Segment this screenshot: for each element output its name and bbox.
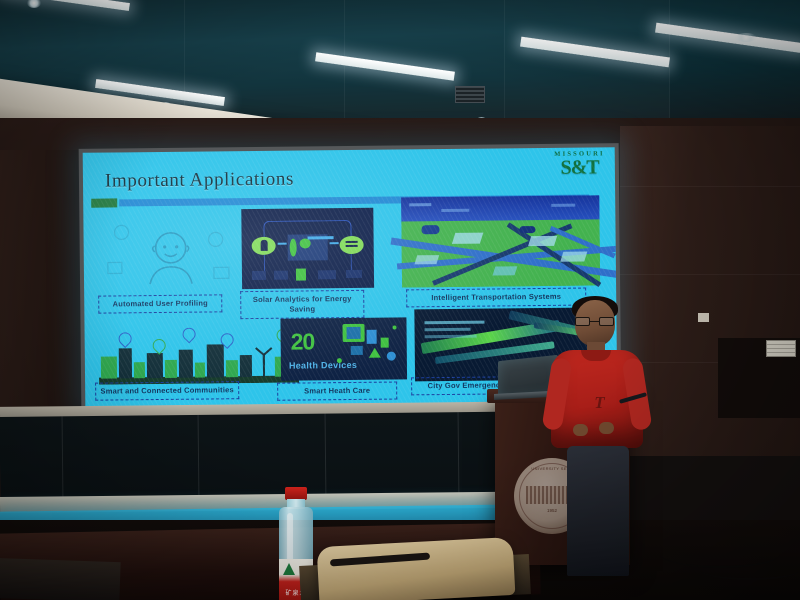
image-solar-analytics — [241, 208, 374, 289]
wall-sign — [766, 340, 796, 357]
image-intelligent-transportation — [401, 195, 600, 287]
foreground-chair-back — [317, 537, 516, 600]
health-figure-number: 20 — [291, 328, 315, 355]
presentation-photo-scene: Important Applications MISSOURI S&T — [0, 0, 800, 600]
health-figure-label: Health Devices — [289, 360, 357, 371]
slide-title: Important Applications — [105, 169, 294, 193]
image-smart-health-care: 20 Health Devices — [280, 317, 407, 380]
image-smart-connected-communities — [99, 327, 300, 385]
ceiling-light-strip — [655, 23, 800, 54]
map-pin-icon — [116, 330, 134, 348]
logo-main-text: S&T — [554, 157, 605, 178]
tshirt-graphic: T — [578, 392, 620, 414]
caption-automated-user-profiling: Automated User Profiling — [98, 294, 222, 313]
map-pin-icon — [180, 327, 198, 344]
caption-solar-analytics: Solar Analytics for Energy Saving — [240, 290, 364, 320]
bottle-highlight — [287, 513, 293, 565]
floor-cable — [700, 560, 800, 580]
presenter-trousers — [567, 446, 629, 576]
glasses-icon — [575, 317, 615, 326]
accent-tab-green — [91, 198, 117, 207]
foreground-seat-left — [0, 558, 121, 600]
caption-smart-connected-communities: Smart and Connected Communities — [95, 381, 239, 401]
wall-switch[interactable] — [698, 313, 709, 322]
presenter: T — [545, 300, 655, 600]
bottle-leaf-logo — [283, 563, 295, 575]
presenter-right-hand — [599, 422, 614, 434]
ceiling-vent — [455, 86, 485, 103]
ceiling-spotlight — [735, 33, 757, 42]
missouri-st-logo: MISSOURI S&T — [554, 151, 605, 177]
image-automated-user-profiling — [101, 213, 242, 292]
map-pin-icon — [150, 336, 168, 354]
presenter-left-hand — [573, 424, 588, 436]
decorative-icons — [103, 217, 239, 292]
caption-smart-health-care: Smart Heath Care — [277, 382, 397, 401]
windmill-icon — [253, 345, 275, 377]
